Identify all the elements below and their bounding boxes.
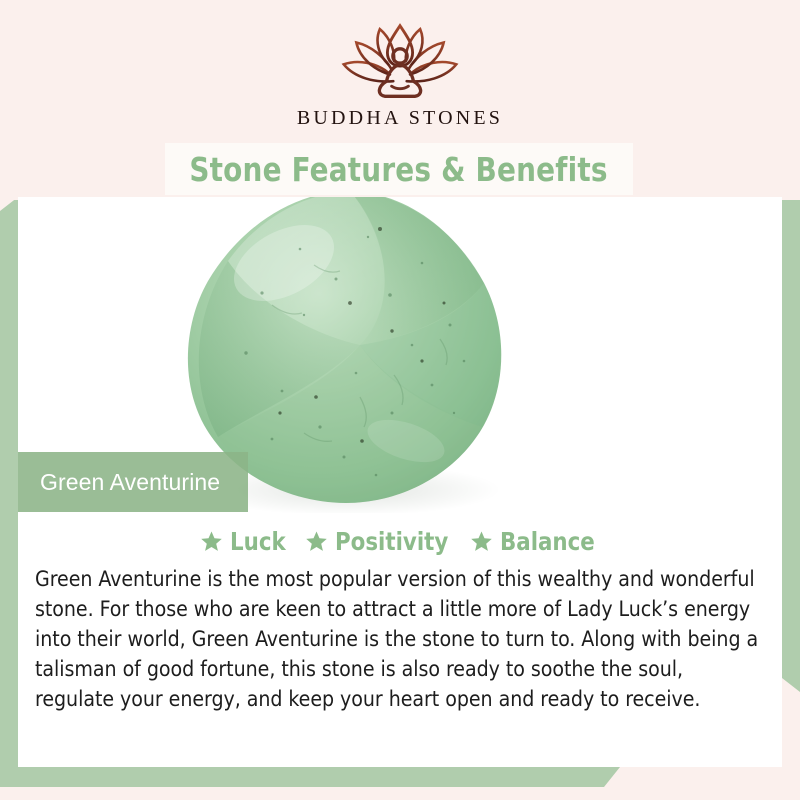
- frame-bottom-band: [0, 767, 620, 787]
- benefit-label: Luck: [230, 527, 286, 556]
- benefit-label: Balance: [500, 527, 595, 556]
- content-card: Green Aventurine Luck Positivity: [18, 197, 782, 767]
- stone-name: Green Aventurine: [40, 469, 220, 496]
- stone-photo: Green Aventurine: [18, 197, 782, 513]
- benefit-item: Positivity: [305, 527, 454, 556]
- stone-description: Green Aventurine is the most popular ver…: [35, 565, 760, 715]
- star-icon: [305, 530, 328, 553]
- frame-left-band: [0, 197, 18, 767]
- section-title: Stone Features & Benefits: [190, 150, 608, 189]
- star-icon: [470, 530, 493, 553]
- section-title-banner: Stone Features & Benefits: [165, 143, 633, 195]
- brand-logo: BUDDHA STONES: [0, 22, 800, 130]
- star-icon: [200, 530, 223, 553]
- benefit-item: Luck: [200, 527, 289, 556]
- benefit-label: Positivity: [335, 527, 448, 556]
- benefit-item: Balance: [470, 527, 600, 556]
- lotus-meditation-figure-icon: [316, 22, 484, 100]
- header: BUDDHA STONES Stone Features & Benefits: [0, 0, 800, 200]
- stone-name-bar: Green Aventurine: [18, 452, 248, 512]
- infographic-page: BUDDHA STONES Stone Features & Benefits: [0, 0, 800, 800]
- brand-name: BUDDHA STONES: [297, 107, 503, 130]
- benefits-list: Luck Positivity Balance: [18, 527, 782, 556]
